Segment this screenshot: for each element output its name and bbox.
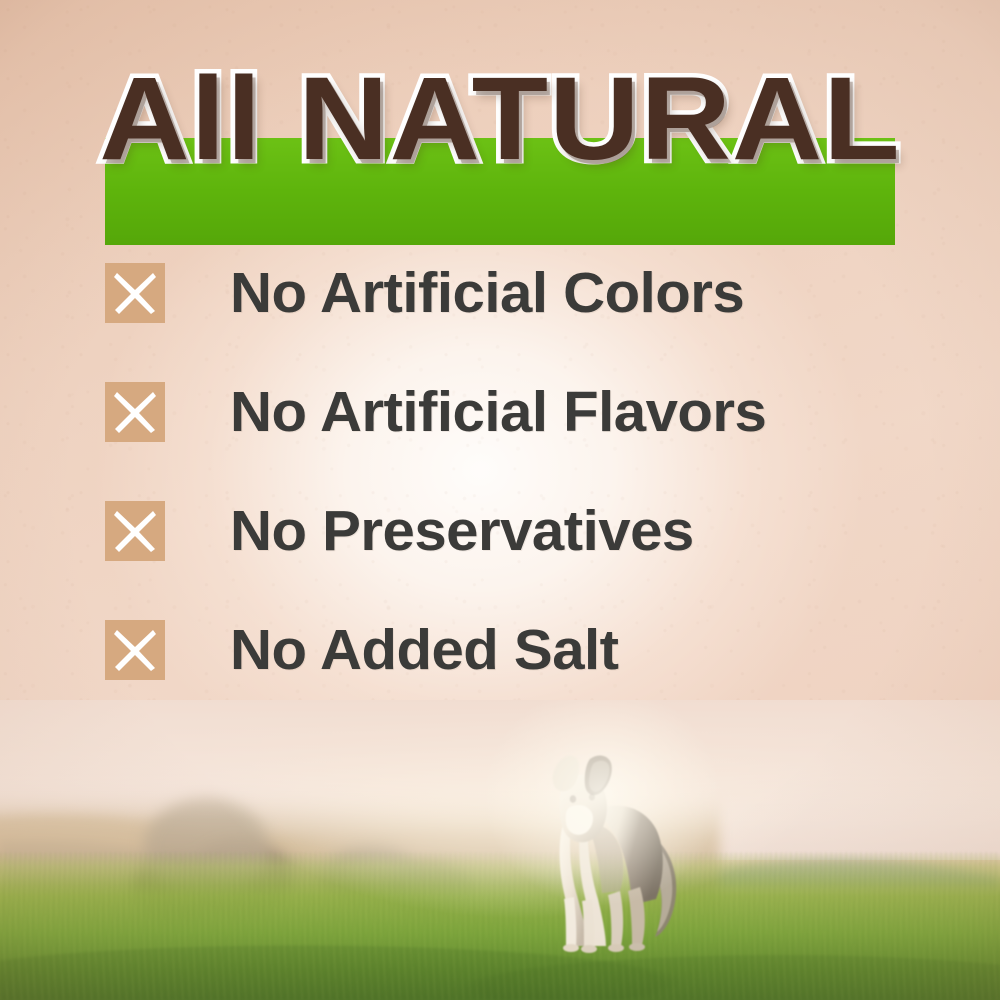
x-mark-icon: [105, 620, 165, 680]
headline-banner: All NATURAL: [0, 60, 1000, 210]
list-item-label: No Preservatives: [230, 503, 694, 560]
x-mark-icon: [105, 263, 165, 323]
x-mark-icon: [105, 501, 165, 561]
list-item-label: No Artificial Flavors: [230, 384, 766, 441]
list-item: No Artificial Flavors: [105, 377, 925, 447]
feature-list: No Artificial Colors No Artificial Flavo…: [105, 258, 925, 734]
list-item: No Preservatives: [105, 496, 925, 566]
list-item: No Added Salt: [105, 615, 925, 685]
list-item: No Artificial Colors: [105, 258, 925, 328]
list-item-label: No Added Salt: [230, 622, 619, 679]
page-title: All NATURAL: [0, 60, 1000, 178]
list-item-label: No Artificial Colors: [230, 265, 744, 322]
all-natural-feature-poster: All NATURAL No Artificial Colors No Arti…: [0, 0, 1000, 1000]
x-mark-icon: [105, 382, 165, 442]
